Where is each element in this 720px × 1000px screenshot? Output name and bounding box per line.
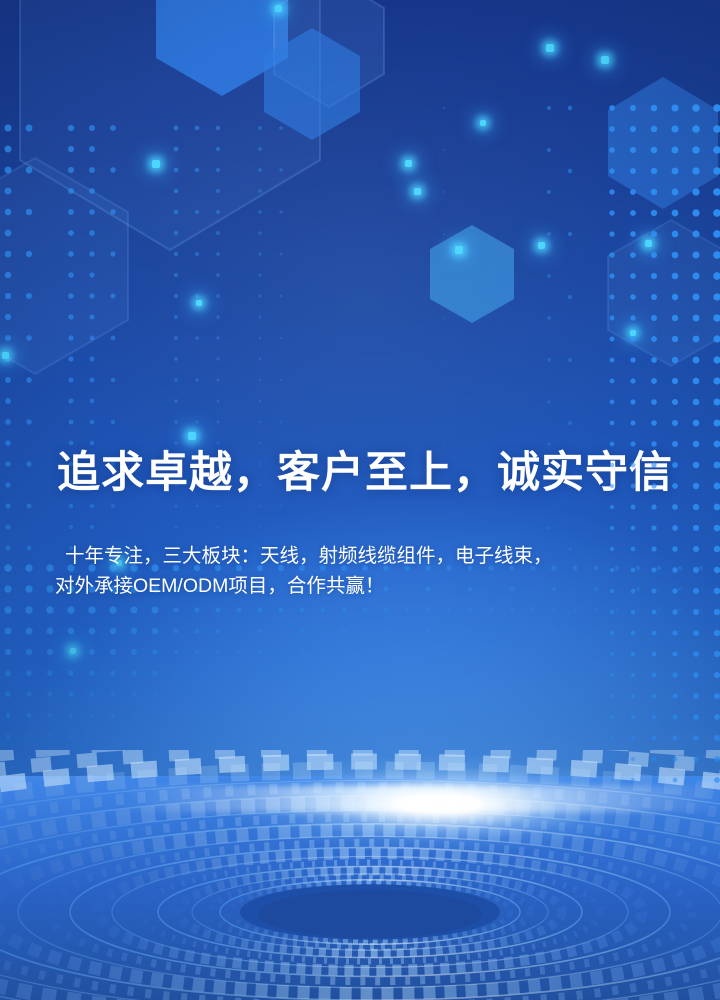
halftone-dot-overlay	[436, 100, 720, 790]
banner-canvas: 追求卓越，客户至上，诚实守信 十年专注，三大板块：天线，射频线缆组件，电子线束，…	[0, 0, 720, 1000]
